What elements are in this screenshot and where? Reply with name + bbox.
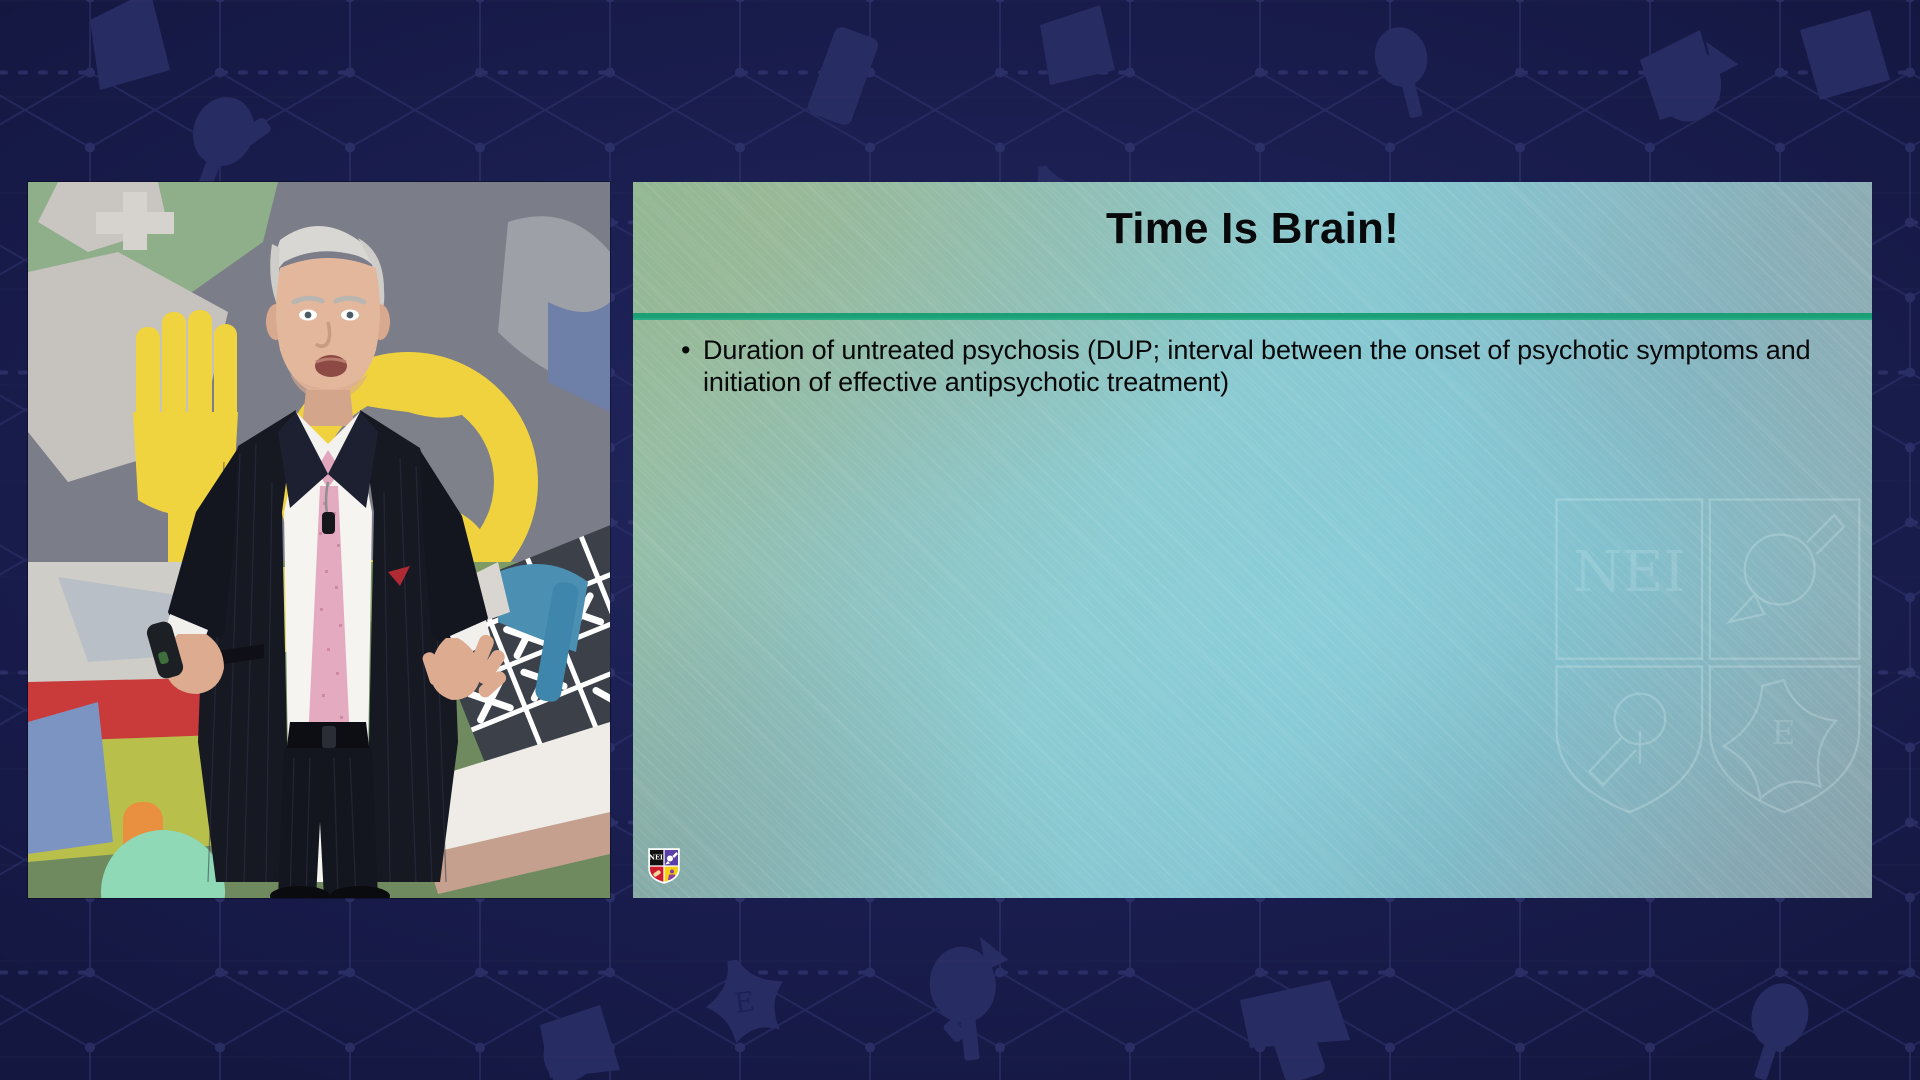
list-item: • Duration of untreated psychosis (DUP; … [681, 334, 1828, 398]
slide-bullet-list: • Duration of untreated psychosis (DUP; … [681, 334, 1828, 398]
bullet-marker-icon: • [681, 334, 703, 366]
svg-text:NEI: NEI [649, 854, 663, 862]
svg-text:NEI: NEI [1573, 540, 1686, 605]
slide-title-divider [633, 313, 1872, 320]
presentation-slide[interactable]: Time Is Brain! NEI [633, 182, 1872, 898]
nei-shield-logo: NEI [648, 848, 680, 884]
slide-body: NEI E • Duration of untreated ps [633, 320, 1872, 898]
bullet-text: Duration of untreated psychosis (DUP; in… [703, 334, 1828, 398]
slide-title: Time Is Brain! [633, 204, 1872, 254]
svg-text:E: E [1772, 713, 1796, 752]
speaker-video-feed[interactable] [28, 182, 610, 898]
nei-shield-watermark: NEI E [1534, 486, 1872, 816]
presenter-figure [28, 182, 610, 898]
slide-title-band: Time Is Brain! [633, 182, 1872, 313]
